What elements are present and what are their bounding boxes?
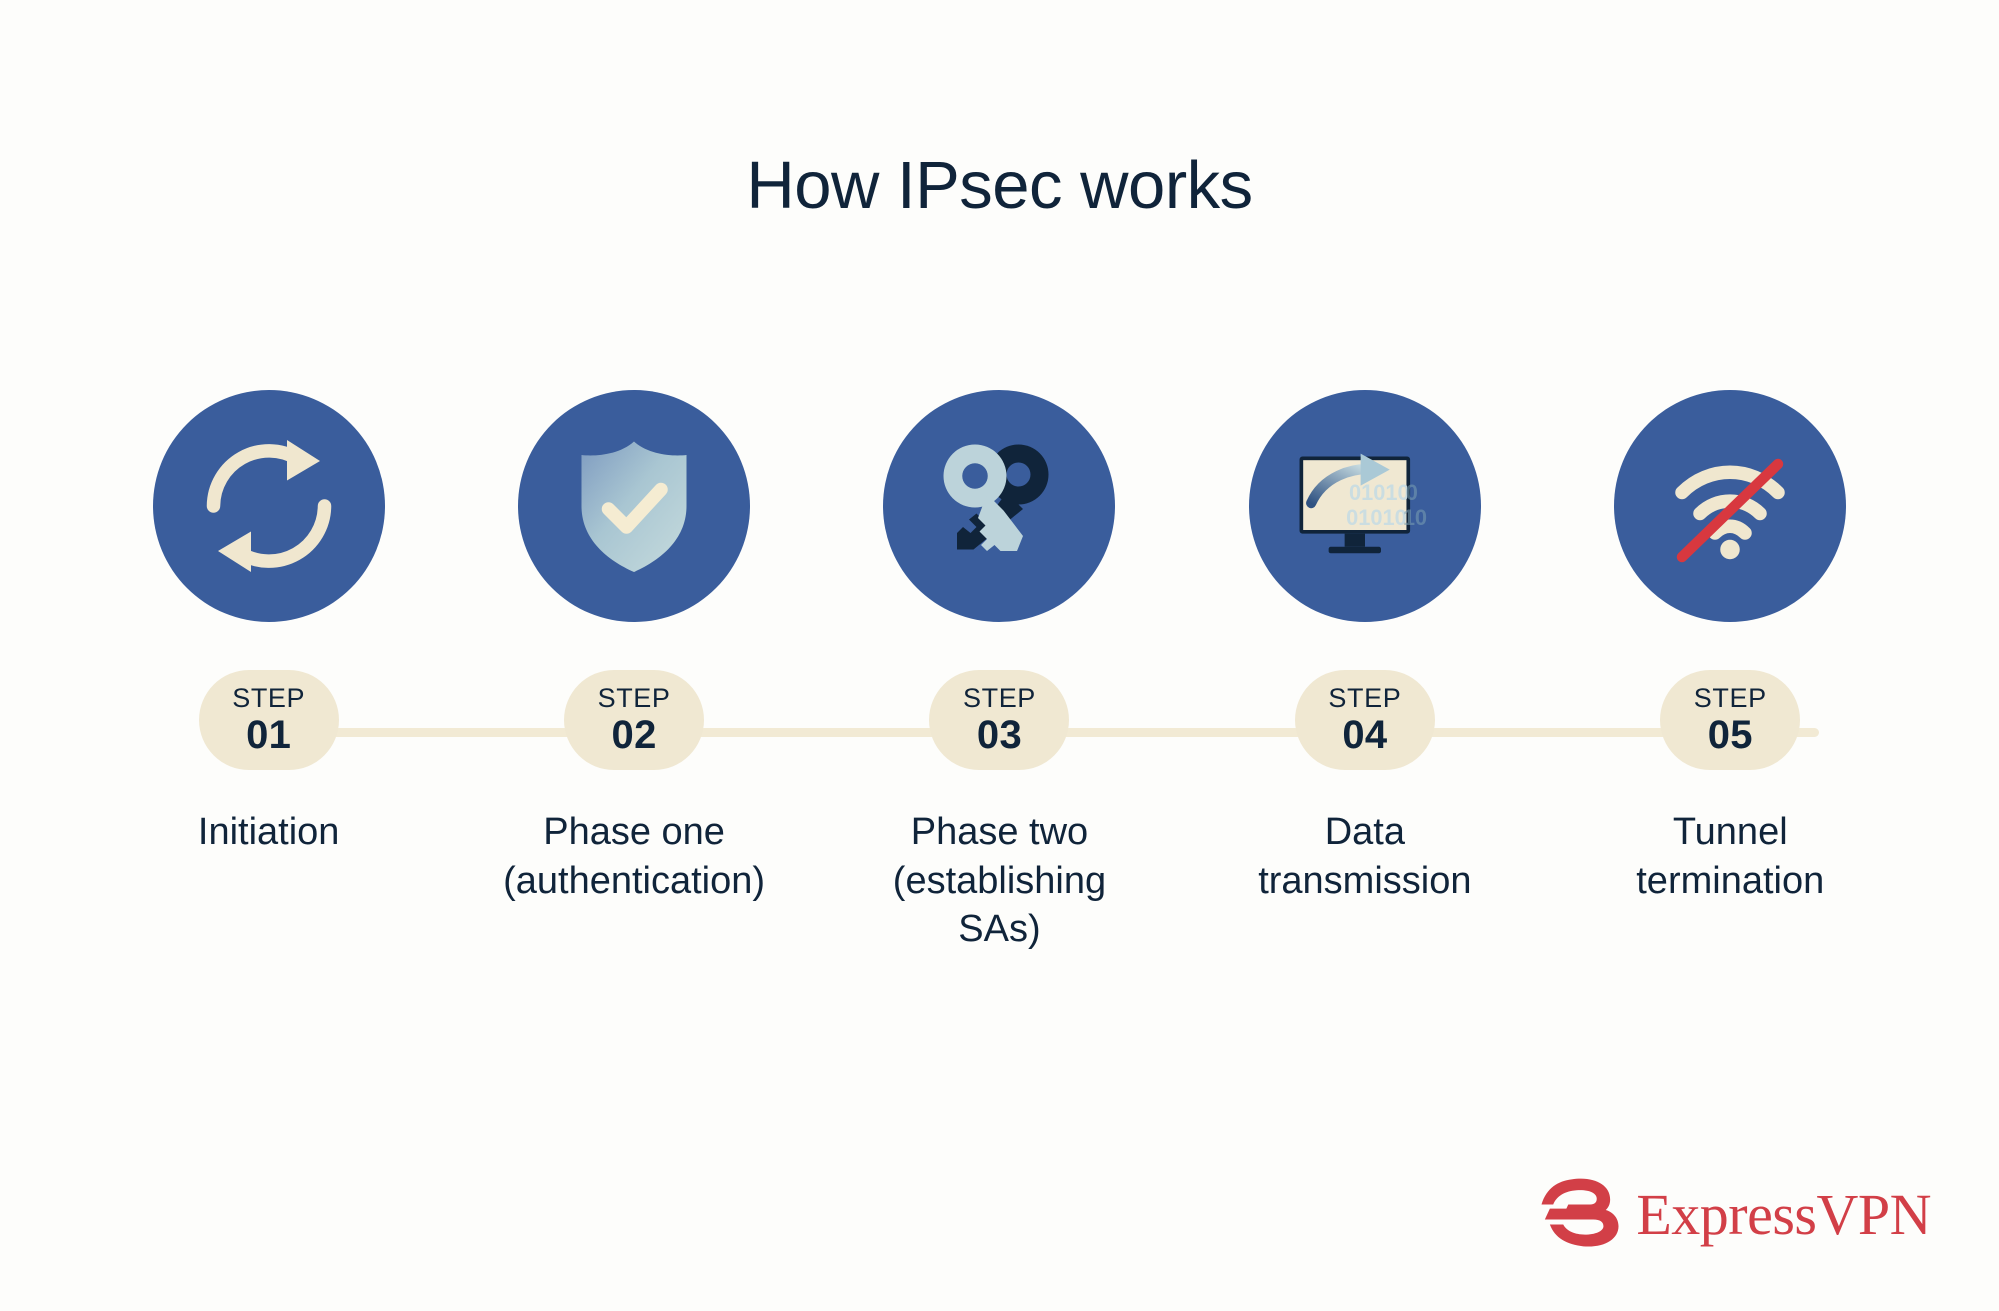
- step-item-03: STEP 03 Phase two (establishing SAs): [817, 390, 1182, 954]
- expressvpn-logo: ExpressVPN: [1538, 1176, 1931, 1253]
- shield-check-icon: [518, 390, 750, 622]
- step-caption-02: Phase one (authentication): [494, 808, 774, 905]
- refresh-cycle-icon: [153, 390, 385, 622]
- badge-word: STEP: [598, 685, 671, 712]
- step-item-02: STEP 02 Phase one (authentication): [451, 390, 816, 905]
- step-item-05: STEP 05 Tunnel termination: [1548, 390, 1913, 905]
- step-item-01: STEP 01 Initiation: [86, 390, 451, 857]
- wifi-off-icon: [1614, 390, 1846, 622]
- step-badge-02: STEP 02: [564, 670, 704, 770]
- step-caption-03: Phase two (establishing SAs): [859, 808, 1139, 954]
- step-badge-04: STEP 04: [1295, 670, 1435, 770]
- badge-word: STEP: [963, 685, 1036, 712]
- badge-word: STEP: [1694, 685, 1767, 712]
- step-badge-05: STEP 05: [1660, 670, 1800, 770]
- badge-number: 03: [977, 715, 1022, 755]
- step-badge-03: STEP 03: [929, 670, 1069, 770]
- svg-text:10: 10: [1403, 505, 1427, 530]
- badge-number: 02: [612, 715, 657, 755]
- badge-word: STEP: [1328, 685, 1401, 712]
- expressvpn-wordmark: ExpressVPN: [1636, 1186, 1931, 1244]
- monitor-data-icon: 0101010 0101010 0 10: [1249, 390, 1481, 622]
- badge-number: 04: [1342, 715, 1387, 755]
- page-title: How IPsec works: [0, 152, 1999, 219]
- svg-text:0: 0: [1406, 480, 1418, 505]
- badge-number: 01: [246, 715, 291, 755]
- step-caption-05: Tunnel termination: [1590, 808, 1870, 905]
- badge-number: 05: [1708, 715, 1753, 755]
- two-keys-icon: [883, 390, 1115, 622]
- infographic-canvas: How IPsec works STEP 01: [0, 0, 1999, 1311]
- badge-word: STEP: [232, 685, 305, 712]
- steps-row: STEP 01 Initiation: [0, 390, 1999, 970]
- expressvpn-e-logo-icon: [1538, 1176, 1622, 1253]
- step-caption-04: Data transmission: [1225, 808, 1505, 905]
- step-caption-01: Initiation: [129, 808, 409, 857]
- step-item-04: 0101010 0101010 0 10 STEP 04: [1182, 390, 1547, 905]
- step-badge-01: STEP 01: [199, 670, 339, 770]
